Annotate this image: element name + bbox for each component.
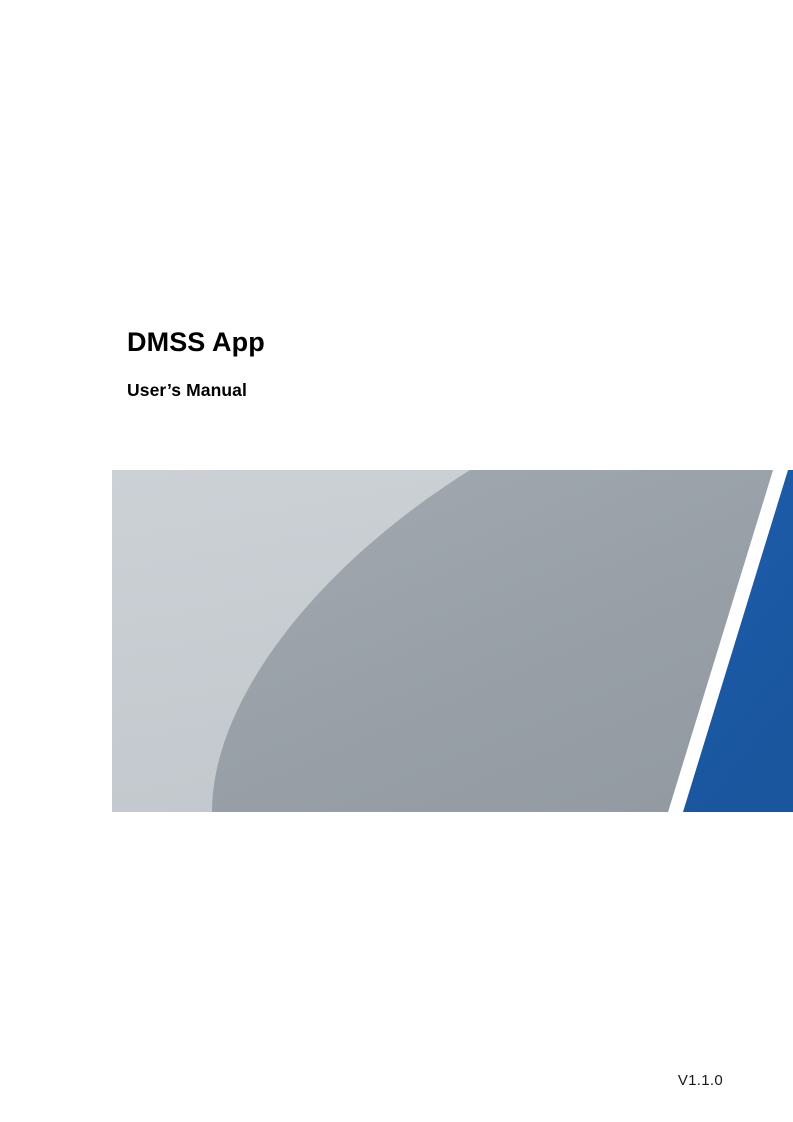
page-title: DMSS App (127, 325, 687, 359)
page-subtitle: User’s Manual (127, 359, 687, 401)
document-version: V1.1.0 (0, 1072, 723, 1089)
title-block: DMSS App User’s Manual (127, 325, 687, 401)
cover-banner-svg (112, 470, 793, 812)
cover-page: DMSS App User’s Manual (0, 0, 793, 1122)
cover-banner-graphic (112, 470, 793, 812)
